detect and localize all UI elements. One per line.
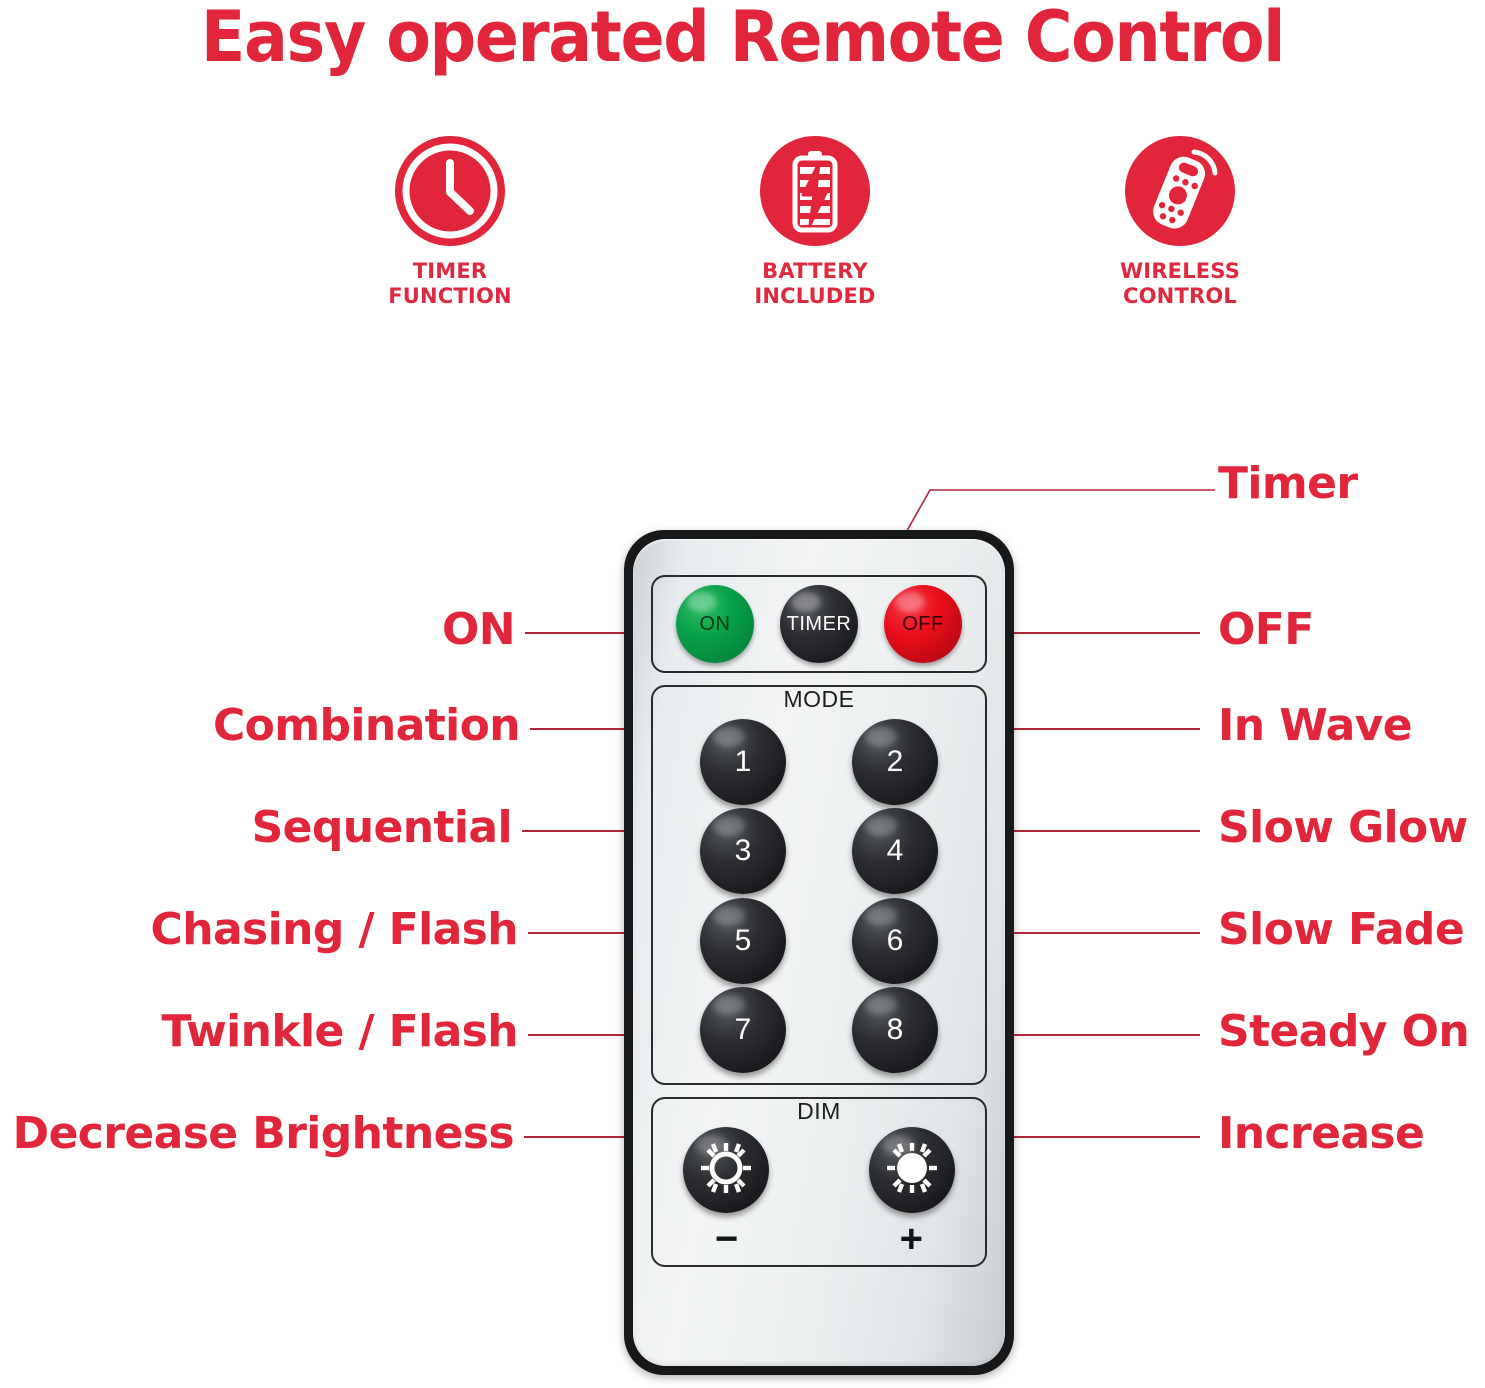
mode-button-1-label: 1 [735,745,752,779]
feature-timer-label: TIMER FUNCTION [388,259,512,309]
battery-icon [759,135,871,247]
callout-timer: Timer [1218,462,1358,506]
brightness-increase-button[interactable] [869,1127,955,1213]
mode-button-7-label: 7 [735,1013,752,1047]
dim-sign-row: − + [669,1213,969,1259]
infographic-canvas: Easy operated Remote Control TIMER FUNCT… [0,0,1485,1388]
callout-off: OFF [1218,608,1314,652]
mode-button-6[interactable]: 6 [852,898,938,984]
callout-twinkle-flash: Twinkle / Flash [100,1010,518,1054]
off-button[interactable]: OFF [884,585,962,663]
dim-decrease-sign: − [715,1219,738,1259]
feature-badge-row: TIMER FUNCTION BATTERY INCLUDED [300,135,1330,309]
callout-decrease-brightness: Decrease Brightness [6,1112,514,1156]
mode-button-2[interactable]: 2 [852,719,938,805]
dim-panel-caption: DIM [653,1098,985,1125]
callout-increase: Increase [1218,1112,1424,1156]
timer-button-label: TIMER [787,613,852,636]
mode-button-8[interactable]: 8 [852,987,938,1073]
callout-in-wave: In Wave [1218,704,1412,748]
dim-increase-sign: + [900,1219,923,1259]
feature-wireless: WIRELESS CONTROL [1030,135,1330,309]
mode-button-panel: MODE 1 2 3 4 5 6 7 8 [651,685,987,1085]
mode-button-3-label: 3 [735,834,752,868]
callout-combination: Combination [120,704,520,748]
callout-slow-fade: Slow Fade [1218,908,1464,952]
mode-button-5[interactable]: 5 [700,898,786,984]
mode-button-5-label: 5 [735,924,752,958]
mode-button-8-label: 8 [887,1013,904,1047]
mode-button-1[interactable]: 1 [700,719,786,805]
remote-signal-icon [1124,135,1236,247]
mode-button-7[interactable]: 7 [700,987,786,1073]
mode-panel-caption: MODE [653,686,985,713]
on-button-label: ON [700,613,731,636]
power-button-panel: ON TIMER OFF [651,575,987,673]
page-title: Easy operated Remote Control [52,0,1433,78]
dim-button-panel: DIM [651,1097,987,1267]
mode-button-4-label: 4 [887,834,904,868]
feature-wireless-label: WIRELESS CONTROL [1120,259,1240,309]
callout-sequential: Sequential [120,806,512,850]
remote-control-device: ON TIMER OFF MODE 1 2 3 4 5 6 7 8 [624,530,1014,1375]
timer-button[interactable]: TIMER [780,585,858,663]
callout-slow-glow: Slow Glow [1218,806,1468,850]
on-button[interactable]: ON [676,585,754,663]
feature-battery: BATTERY INCLUDED [665,135,965,309]
sun-bright-icon [883,1139,941,1202]
mode-button-3[interactable]: 3 [700,808,786,894]
mode-button-4[interactable]: 4 [852,808,938,894]
leader-line-off [985,632,1200,634]
remote-faceplate: ON TIMER OFF MODE 1 2 3 4 5 6 7 8 [633,539,1005,1366]
feature-battery-label: BATTERY INCLUDED [754,259,875,309]
callout-on: ON [180,608,515,652]
callout-steady-on: Steady On [1218,1010,1469,1054]
brightness-decrease-button[interactable] [683,1127,769,1213]
sun-dim-icon [697,1139,755,1202]
mode-button-2-label: 2 [887,745,904,779]
feature-timer: TIMER FUNCTION [300,135,600,309]
off-button-label: OFF [902,613,944,636]
clock-icon [394,135,506,247]
mode-button-6-label: 6 [887,924,904,958]
dim-button-row [669,1127,969,1213]
callout-chasing-flash: Chasing / Flash [100,908,518,952]
